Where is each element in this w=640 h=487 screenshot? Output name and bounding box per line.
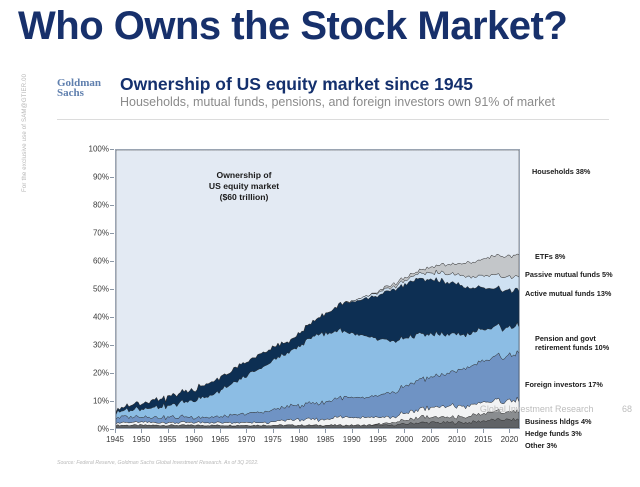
x-axis-label: 1960: [185, 435, 203, 444]
x-axis-label: 1945: [106, 435, 124, 444]
y-axis-tick: [110, 317, 114, 318]
x-axis-label: 1970: [238, 435, 256, 444]
y-axis-label: 60%: [57, 257, 109, 266]
y-axis-label: 90%: [57, 173, 109, 182]
x-axis-tick: [246, 429, 247, 433]
series-callout-foreign-investors: Foreign investors 17%: [525, 380, 603, 389]
annotation-line-1: Ownership of: [169, 170, 319, 181]
series-callout-hedge-funds: Hedge funds 3%: [525, 429, 582, 438]
x-axis-label: 1980: [290, 435, 308, 444]
y-axis-tick: [110, 345, 114, 346]
series-callout-etfs: ETFs 8%: [535, 252, 565, 261]
chart-area: 0%10%20%30%40%50%60%70%80%90%100% 194519…: [57, 142, 609, 442]
x-axis-label: 1985: [316, 435, 334, 444]
x-axis-tick: [220, 429, 221, 433]
y-axis-label: 10%: [57, 397, 109, 406]
slide-panel: Goldman Sachs Ownership of US equity mar…: [24, 62, 616, 480]
footer-label: Global Investment Research: [480, 404, 594, 414]
y-axis-label: 70%: [57, 229, 109, 238]
source-note: Source: Federal Reserve, Goldman Sachs G…: [57, 460, 259, 466]
x-axis-tick: [273, 429, 274, 433]
x-axis-label: 1950: [132, 435, 150, 444]
y-axis-label: 80%: [57, 201, 109, 210]
y-axis-tick: [110, 373, 114, 374]
x-axis-label: 1995: [369, 435, 387, 444]
page-title: Who Owns the Stock Market?: [18, 4, 628, 49]
x-axis-label: 1990: [343, 435, 361, 444]
x-axis-tick: [115, 429, 116, 433]
series-callout-other: Other 3%: [525, 441, 557, 450]
x-axis-label: 2000: [395, 435, 413, 444]
x-axis-tick: [483, 429, 484, 433]
x-axis-tick: [431, 429, 432, 433]
y-axis-label: 40%: [57, 313, 109, 322]
x-axis-tick: [168, 429, 169, 433]
watermark-text: For the exclusive use of SAM@GTIER.00: [22, 74, 28, 192]
series-callout-passive-mutual-funds: Passive mutual funds 5%: [525, 270, 613, 279]
x-axis-tick: [509, 429, 510, 433]
y-axis-tick: [110, 233, 114, 234]
series-callout-active-mutual-funds: Active mutual funds 13%: [525, 289, 611, 298]
logo-line-2: Sachs: [57, 88, 117, 98]
x-axis-label: 1965: [211, 435, 229, 444]
x-axis-label: 2015: [474, 435, 492, 444]
y-axis-tick: [110, 401, 114, 402]
y-axis-tick: [110, 261, 114, 262]
page-number: 68: [622, 404, 632, 414]
x-axis-tick: [194, 429, 195, 433]
y-axis-tick: [110, 205, 114, 206]
x-axis-tick: [141, 429, 142, 433]
slide-title: Ownership of US equity market since 1945: [120, 74, 473, 95]
x-axis-label: 1975: [264, 435, 282, 444]
slide-subtitle: Households, mutual funds, pensions, and …: [120, 95, 555, 109]
x-axis-label: 2020: [501, 435, 519, 444]
x-axis-tick: [404, 429, 405, 433]
y-axis-label: 30%: [57, 341, 109, 350]
series-callout-households: Households 38%: [532, 167, 590, 176]
y-axis-tick: [110, 289, 114, 290]
x-axis-tick: [378, 429, 379, 433]
annotation-line-3: ($60 trillion): [169, 192, 319, 203]
x-axis-label: 2010: [448, 435, 466, 444]
x-axis-label: 1955: [159, 435, 177, 444]
y-axis-label: 0%: [57, 425, 109, 434]
slide-footer: Global Investment Research 68: [480, 404, 632, 414]
series-callout-pension-and-govt-retirement-funds: Pension and govtretirement funds 10%: [535, 334, 609, 352]
y-axis-tick: [110, 177, 114, 178]
header-divider: [57, 119, 609, 120]
annotation-line-2: US equity market: [169, 181, 319, 192]
y-axis-label: 50%: [57, 285, 109, 294]
chart-annotation: Ownership of US equity market ($60 trill…: [169, 170, 319, 203]
x-axis-tick: [299, 429, 300, 433]
x-axis-label: 2005: [422, 435, 440, 444]
y-axis-label: 100%: [57, 145, 109, 154]
x-axis-tick: [352, 429, 353, 433]
y-axis-label: 20%: [57, 369, 109, 378]
y-axis-tick: [110, 429, 114, 430]
x-axis-tick: [457, 429, 458, 433]
x-axis-tick: [325, 429, 326, 433]
goldman-sachs-logo: Goldman Sachs: [57, 78, 117, 98]
series-callout-business-hldgs: Business hldgs 4%: [525, 417, 592, 426]
y-axis-tick: [110, 149, 114, 150]
